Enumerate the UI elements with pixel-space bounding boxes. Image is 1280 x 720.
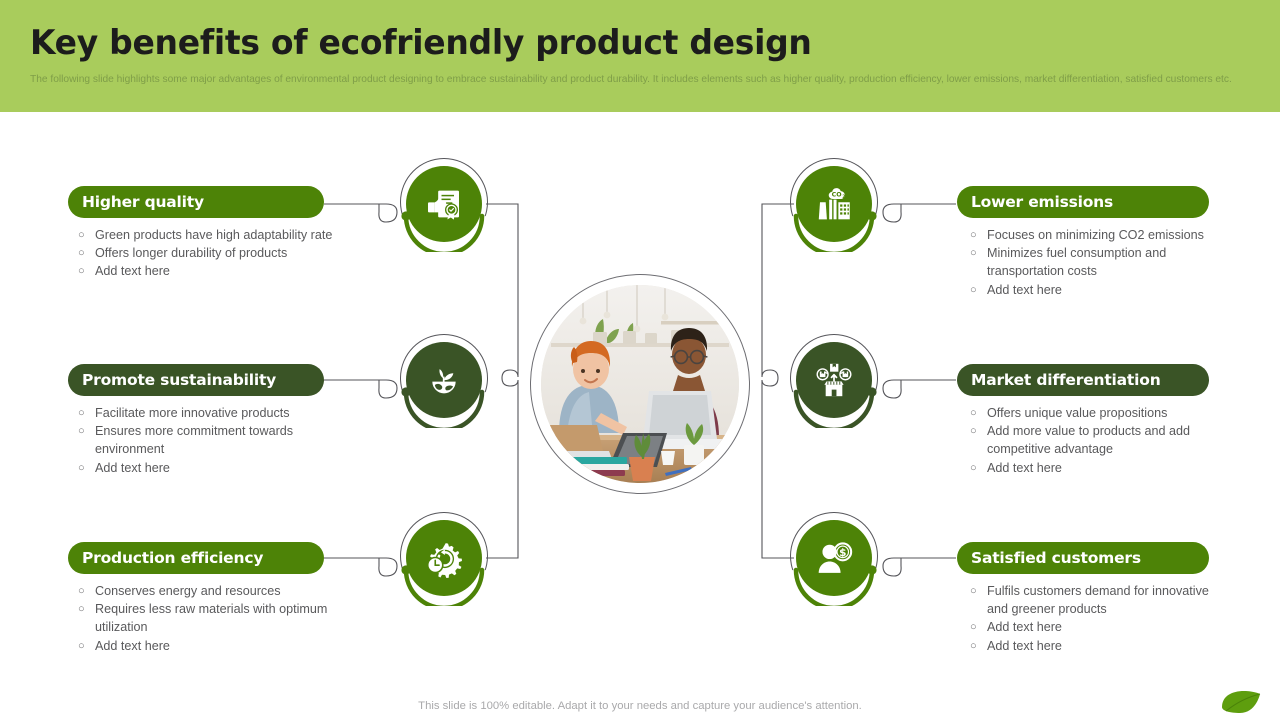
- page-subtitle: The following slide highlights some majo…: [30, 73, 1248, 87]
- bullet-marker-icon: ○: [78, 582, 95, 600]
- store-distribution-icon: [813, 359, 855, 401]
- list-item: ○ Facilitate more innovative products: [78, 404, 346, 422]
- center-photo: [530, 274, 750, 494]
- bullet-list-lower-emissions: ○ Focuses on minimizing CO2 emissions ○ …: [970, 226, 1222, 299]
- panel-title-lower-emissions[interactable]: Lower emissions: [957, 186, 1209, 218]
- two-colleagues-at-desk-with-laptop-photo: [541, 285, 739, 483]
- icon-node-higher-quality[interactable]: [396, 156, 492, 252]
- list-item-text: Add text here: [95, 637, 346, 655]
- list-item-text: Offers unique value propositions: [987, 404, 1222, 422]
- bullet-list-higher-quality: ○ Green products have high adaptability …: [78, 226, 346, 281]
- bullet-marker-icon: ○: [970, 226, 987, 244]
- bullet-list-production-efficiency: ○ Conserves energy and resources ○ Requi…: [78, 582, 346, 655]
- panel-title-satisfied-customers[interactable]: Satisfied customers: [957, 542, 1209, 574]
- bullet-marker-icon: ○: [78, 404, 95, 422]
- plant-in-hands-icon: [424, 360, 464, 400]
- bullet-marker-icon: ○: [970, 422, 987, 440]
- icon-disc: [406, 342, 482, 418]
- bullet-marker-icon: ○: [78, 637, 95, 655]
- panel-title-label: Satisfied customers: [971, 549, 1141, 567]
- panel-title-promote-sustainability[interactable]: Promote sustainability: [68, 364, 324, 396]
- list-item: ○ Requires less raw materials with optim…: [78, 600, 346, 636]
- list-item-text: Add text here: [987, 281, 1222, 299]
- icon-node-market-differentiation[interactable]: [786, 332, 882, 428]
- bullet-marker-icon: ○: [78, 262, 95, 280]
- panel-title-label: Production efficiency: [82, 549, 263, 567]
- co2-factory-icon: CO 2: [813, 183, 855, 225]
- page-title: Key benefits of ecofriendly product desi…: [30, 23, 812, 63]
- bullet-marker-icon: ○: [970, 459, 987, 477]
- icon-disc: [406, 166, 482, 242]
- bullet-list-market-differentiation: ○ Offers unique value propositions ○ Add…: [970, 404, 1222, 477]
- panel-title-market-differentiation[interactable]: Market differentiation: [957, 364, 1209, 396]
- list-item: ○ Ensures more commitment towards enviro…: [78, 422, 346, 458]
- bullet-list-satisfied-customers: ○ Fulfils customers demand for innovativ…: [970, 582, 1222, 655]
- gear-clock-icon: [423, 537, 465, 579]
- bullet-marker-icon: ○: [78, 244, 95, 262]
- diagram-canvas: Higher quality ○ Green products have hig…: [0, 112, 1280, 720]
- icon-disc: $: [796, 520, 872, 596]
- icon-node-production-efficiency[interactable]: [396, 510, 492, 606]
- photo-image: [541, 285, 739, 483]
- certificate-thumbsup-icon: [424, 184, 464, 224]
- bullet-marker-icon: ○: [970, 281, 987, 299]
- list-item: ○ Fulfils customers demand for innovativ…: [970, 582, 1222, 618]
- list-item-text: Add text here: [987, 637, 1222, 655]
- bullet-marker-icon: ○: [970, 618, 987, 636]
- list-item: ○ Add text here: [78, 637, 346, 655]
- svg-text:CO: CO: [832, 191, 843, 198]
- list-item: ○ Add more value to products and add com…: [970, 422, 1222, 458]
- list-item: ○ Add text here: [970, 637, 1222, 655]
- list-item-text: Green products have high adaptability ra…: [95, 226, 346, 244]
- panel-title-label: Lower emissions: [971, 193, 1113, 211]
- icon-node-satisfied-customers[interactable]: $: [786, 510, 882, 606]
- list-item-text: Fulfils customers demand for innovative …: [987, 582, 1222, 618]
- panel-title-label: Promote sustainability: [82, 371, 276, 389]
- list-item: ○ Offers longer durability of products: [78, 244, 346, 262]
- list-item: ○ Add text here: [970, 618, 1222, 636]
- list-item: ○ Add text here: [970, 281, 1222, 299]
- list-item: ○ Conserves energy and resources: [78, 582, 346, 600]
- panel-title-label: Higher quality: [82, 193, 204, 211]
- list-item: ○ Focuses on minimizing CO2 emissions: [970, 226, 1222, 244]
- bullet-marker-icon: ○: [970, 244, 987, 262]
- list-item-text: Add text here: [95, 459, 346, 477]
- list-item-text: Add text here: [95, 262, 346, 280]
- bullet-marker-icon: ○: [78, 422, 95, 440]
- bullet-marker-icon: ○: [970, 637, 987, 655]
- panel-title-higher-quality[interactable]: Higher quality: [68, 186, 324, 218]
- list-item-text: Focuses on minimizing CO2 emissions: [987, 226, 1222, 244]
- svg-text:$: $: [839, 547, 846, 559]
- icon-disc: [406, 520, 482, 596]
- list-item-text: Offers longer durability of products: [95, 244, 346, 262]
- list-item: ○ Green products have high adaptability …: [78, 226, 346, 244]
- icon-node-promote-sustainability[interactable]: [396, 332, 492, 428]
- list-item: ○ Add text here: [78, 459, 346, 477]
- list-item: ○ Offers unique value propositions: [970, 404, 1222, 422]
- list-item-text: Requires less raw materials with optimum…: [95, 600, 346, 636]
- list-item-text: Facilitate more innovative products: [95, 404, 346, 422]
- list-item-text: Add more value to products and add compe…: [987, 422, 1222, 458]
- icon-disc: [796, 342, 872, 418]
- list-item-text: Ensures more commitment towards environm…: [95, 422, 346, 458]
- list-item: ○ Minimizes fuel consumption and transpo…: [970, 244, 1222, 280]
- bullet-marker-icon: ○: [970, 404, 987, 422]
- bullet-marker-icon: ○: [78, 459, 95, 477]
- list-item: ○ Add text here: [970, 459, 1222, 477]
- icon-disc: CO 2: [796, 166, 872, 242]
- list-item-text: Add text here: [987, 459, 1222, 477]
- svg-text:2: 2: [842, 194, 845, 199]
- leaf-logo: [1218, 689, 1264, 715]
- bullet-marker-icon: ○: [78, 600, 95, 618]
- list-item-text: Minimizes fuel consumption and transport…: [987, 244, 1222, 280]
- icon-node-lower-emissions[interactable]: CO 2: [786, 156, 882, 252]
- footer-note: This slide is 100% editable. Adapt it to…: [0, 700, 1280, 712]
- bullet-marker-icon: ○: [970, 582, 987, 600]
- list-item: ○ Add text here: [78, 262, 346, 280]
- bullet-list-promote-sustainability: ○ Facilitate more innovative products ○ …: [78, 404, 346, 477]
- customer-money-icon: $: [813, 537, 855, 579]
- panel-title-production-efficiency[interactable]: Production efficiency: [68, 542, 324, 574]
- bullet-marker-icon: ○: [78, 226, 95, 244]
- list-item-text: Conserves energy and resources: [95, 582, 346, 600]
- slide-header: Key benefits of ecofriendly product desi…: [0, 0, 1280, 112]
- panel-title-label: Market differentiation: [971, 371, 1161, 389]
- list-item-text: Add text here: [987, 618, 1222, 636]
